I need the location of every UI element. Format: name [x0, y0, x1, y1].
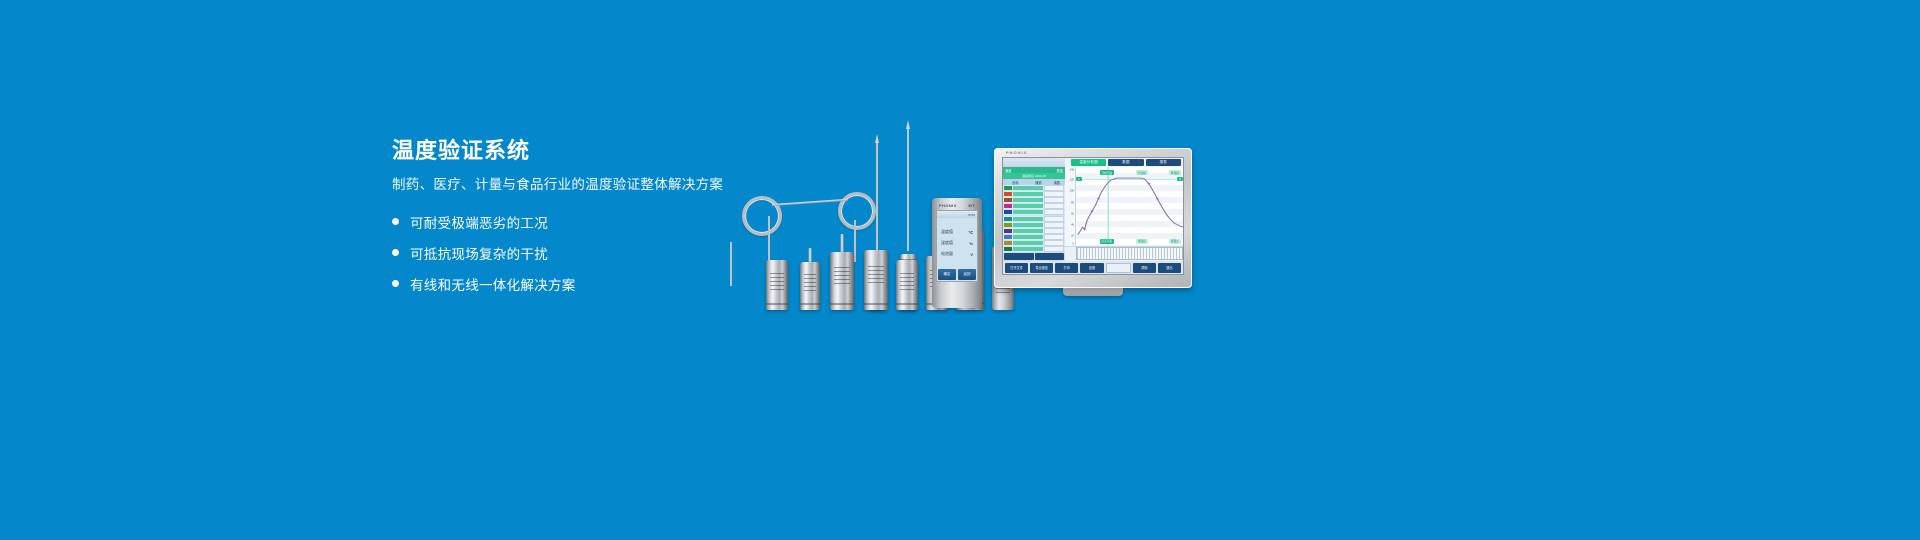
chart-area: 140 120 100 80 60 40 20 0: [1065, 167, 1183, 261]
channel-value: [1044, 228, 1064, 234]
sensor-cable: [772, 199, 848, 206]
y-tick: 120: [1070, 179, 1074, 182]
channel-value: [1044, 185, 1064, 191]
handheld-back-button[interactable]: 返回: [958, 269, 976, 280]
chart-y-axis: 140 120 100 80 60 40 20 0: [1065, 167, 1076, 246]
channel-name: [1013, 192, 1043, 196]
open-file-button[interactable]: 打开文件: [1005, 263, 1028, 273]
y-tick: 100: [1070, 190, 1074, 193]
channel-header-left: 通道: [1005, 168, 1011, 173]
tab-report[interactable]: 报表: [1146, 159, 1181, 166]
logger-ring: [766, 303, 788, 305]
readout-unit: %: [969, 241, 973, 246]
monitor-display: PHONIX 温度分布图 数据 报表: [994, 148, 1192, 288]
readout-unit: V: [970, 252, 973, 257]
color-swatch: [1004, 235, 1012, 239]
handheld-brand-label: PHONIX: [939, 203, 957, 208]
readout-label: 电池量: [941, 251, 953, 257]
logger-label: [868, 266, 883, 286]
chart-marker-end[interactable]: 结束灭菌: [1100, 239, 1114, 244]
readout-label: 温度值: [941, 229, 953, 235]
channel-name: [1013, 186, 1043, 190]
column-header-channel: 通道: [1028, 180, 1049, 185]
y-tick: 80: [1071, 201, 1074, 204]
y-tick: 140: [1070, 169, 1074, 172]
readout-unit: ℃: [968, 230, 973, 235]
chart-marker-start[interactable]: 开始灭菌: [1100, 170, 1114, 175]
channel-name: [1013, 223, 1043, 227]
logger-ring: [830, 303, 854, 305]
channel-header-right: 数值: [1057, 168, 1063, 173]
bullet-label: 可抵抗现场复杂的干扰: [410, 243, 548, 263]
monitor-brand-label: PHONIX: [1006, 150, 1027, 155]
monitor-stand: [1063, 287, 1123, 296]
logger-label: [804, 274, 817, 290]
logger-label: [900, 273, 914, 290]
logger-body: [766, 260, 788, 310]
help-button[interactable]: 帮助: [1133, 263, 1156, 273]
hero-banner: 温度验证系统 制药、医疗、计量与食品行业的温度验证整体解决方案 可耐受极端恶劣的…: [0, 0, 1920, 540]
bullet-dot-icon: [392, 249, 399, 256]
channel-value: [1044, 222, 1064, 228]
y-tick: 40: [1071, 223, 1074, 226]
logger-cap: [867, 252, 885, 257]
settings-button[interactable]: 设置: [1080, 263, 1103, 273]
exit-button[interactable]: 退出: [1158, 263, 1181, 273]
color-swatch: [1004, 198, 1012, 202]
logger-body: [800, 262, 820, 310]
software-header-left: [1003, 158, 1065, 167]
software-toolbar: 打开文件 导出报告 打印 设置 帮助 退出: [1003, 261, 1183, 274]
channel-value: [1044, 234, 1064, 240]
temperature-curve: [1078, 178, 1183, 234]
needle-shaft-icon: [907, 129, 909, 251]
channel-name: [1013, 247, 1043, 251]
logger-ring: [864, 303, 888, 305]
logger-cap: [769, 262, 786, 267]
chart-plot-main: 140 120 100 80 60 40 20 0: [1065, 167, 1183, 246]
channel-name: [1013, 241, 1043, 245]
channel-value: [1044, 191, 1064, 197]
handheld-reader-device[interactable]: PHONIX MT 8736 温度值 ℃ 湿度值 %: [932, 198, 982, 308]
y-tick: 20: [1071, 234, 1074, 237]
chart-time-scale[interactable]: [1076, 247, 1183, 260]
tab-temperature-chart[interactable]: 温度分布图: [1071, 159, 1106, 166]
chart-x-axis: [1065, 246, 1183, 261]
data-logger-1: [766, 260, 788, 310]
chart-marker-hold-start: 保温起: [1136, 239, 1148, 244]
handheld-model-label: MT: [968, 203, 975, 208]
bullet-dot-icon: [392, 218, 399, 225]
chart-svg: [1076, 167, 1183, 246]
column-header-reading: 读数: [1049, 180, 1065, 185]
handheld-confirm-button[interactable]: 确定: [938, 269, 956, 280]
data-logger-2: [800, 248, 820, 310]
handheld-brand-row: PHONIX MT: [936, 202, 978, 210]
handheld-button-row: 确定 返回: [937, 268, 977, 281]
monitor-bezel: PHONIX 温度分布图 数据 报表: [994, 148, 1192, 288]
tab-bar: 温度分布图 数据 报表: [1065, 158, 1183, 167]
logger-body: [896, 260, 918, 310]
color-swatch: [1004, 223, 1012, 227]
logger-stem: [809, 248, 812, 262]
data-logger-3: [830, 234, 854, 310]
logger-ring: [896, 303, 918, 305]
software-header: 温度分布图 数据 报表: [1003, 158, 1183, 167]
channel-panel-footer: [1003, 252, 1065, 261]
data-point: [1156, 198, 1158, 200]
chart-badge-b[interactable]: B: [1177, 177, 1183, 181]
channel-name: [1013, 210, 1043, 214]
logger-cap: [802, 264, 817, 269]
logger-cap: [899, 262, 916, 267]
channel-name: [1013, 217, 1043, 221]
handheld-screen: 8736 温度值 ℃ 湿度值 % 电池量 V: [936, 210, 978, 282]
color-swatch: [1004, 217, 1012, 221]
chart-badge-a[interactable]: A: [1076, 177, 1082, 181]
logger-label: [834, 267, 849, 287]
logger-label: [770, 273, 784, 290]
logger-body: [830, 252, 854, 310]
chart-plot[interactable]: 开始灭菌 结束灭菌 A B 升温段 降温段 保温起 保温止: [1076, 167, 1183, 246]
handheld-readout-list: 温度值 ℃ 湿度值 % 电池量 V: [937, 218, 977, 268]
channel-name: [1013, 204, 1043, 208]
data-point: [1091, 210, 1093, 212]
y-tick: 0: [1073, 242, 1074, 245]
select-all-button[interactable]: [1004, 253, 1034, 260]
tab-data[interactable]: 数据: [1108, 159, 1143, 166]
readout-label: 湿度值: [941, 240, 953, 246]
color-swatch: [1004, 204, 1012, 208]
coiled-cable-sensor-left: [742, 196, 782, 236]
print-button[interactable]: 打印: [1055, 263, 1078, 273]
data-point: [1097, 198, 1099, 200]
channel-value: [1044, 216, 1064, 222]
data-logger-4: [864, 232, 888, 310]
channel-name: [1013, 235, 1043, 239]
invert-selection-button[interactable]: [1035, 253, 1065, 260]
list-item: 电池量 V: [941, 251, 973, 257]
color-swatch: [1004, 241, 1012, 245]
handheld-status-bar: 8736: [937, 211, 977, 218]
data-logger-5: [896, 246, 918, 310]
logger-ring: [800, 303, 820, 305]
color-swatch: [1004, 247, 1012, 251]
color-swatch: [1004, 186, 1012, 190]
logger-stem: [841, 234, 844, 252]
bullet-label: 有线和无线一体化解决方案: [410, 274, 576, 294]
data-point: [1083, 229, 1085, 231]
list-item: 温度值 ℃: [941, 229, 973, 235]
column-header-color: 色标: [1003, 180, 1028, 185]
chart-marker-cool: 降温段: [1169, 170, 1181, 175]
logger-body: [864, 250, 888, 310]
sensor-cable-drop-right: [854, 220, 856, 262]
chart-marker-hold-end: 保温止: [1169, 239, 1181, 244]
sensor-cable-drop-far-left: [730, 242, 732, 286]
y-tick: 60: [1071, 212, 1074, 215]
toolbar-spacer: [1106, 263, 1131, 273]
logger-cap: [833, 254, 851, 259]
channel-name: [1013, 229, 1043, 233]
channel-value: [1044, 209, 1064, 215]
product-photo-group: PHONIX MT 8736 温度值 ℃ 湿度值 %: [720, 120, 1220, 310]
software-body: 通道 数值 温度验证 2024-06 色标 通道 读数: [1003, 167, 1183, 261]
bullet-label: 可耐受极端恶劣的工况: [410, 212, 548, 232]
channel-list[interactable]: [1003, 185, 1065, 252]
list-item: 湿度值 %: [941, 240, 973, 246]
handheld-status-label: 8736: [968, 213, 975, 217]
chart-marker-heat: 升温段: [1136, 170, 1148, 175]
export-report-button[interactable]: 导出报告: [1030, 263, 1053, 273]
channel-value: [1044, 240, 1064, 246]
color-swatch: [1004, 210, 1012, 214]
channel-value: [1044, 203, 1064, 209]
bullet-dot-icon: [392, 280, 399, 287]
data-point: [1148, 183, 1150, 185]
channel-side-panel: 通道 数值 温度验证 2024-06 色标 通道 读数: [1003, 167, 1065, 261]
channel-value: [1044, 197, 1064, 203]
channel-name: [1013, 198, 1043, 202]
color-swatch: [1004, 229, 1012, 233]
software-screen: 温度分布图 数据 报表 通道 数值 温度验证: [1002, 157, 1184, 275]
color-swatch: [1004, 192, 1012, 196]
